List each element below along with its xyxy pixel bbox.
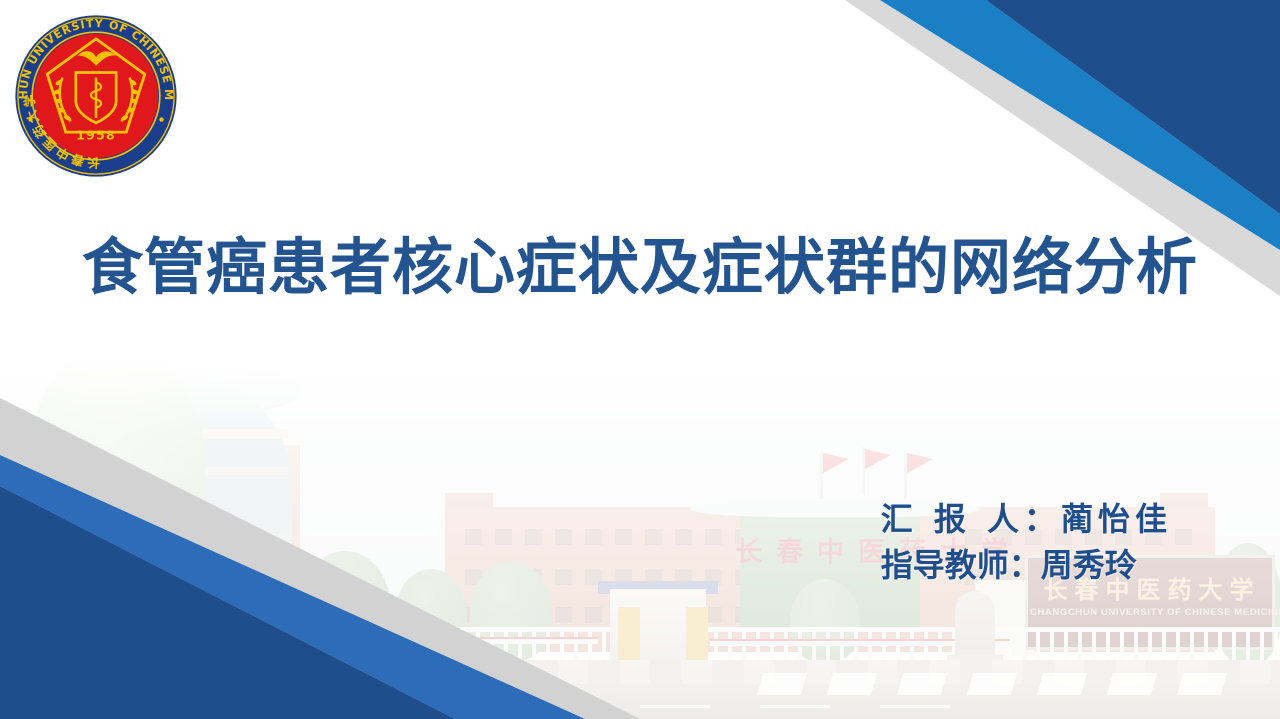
university-emblem-icon: CHANGCHUN UNIVERSITY OF CHINESE MEDICINE… xyxy=(12,12,180,180)
credit-supervisor: 指导教师：周秀玲 xyxy=(881,542,1172,588)
title-slide: 长春中医药大学 长春中医药大学 CHANGCHUN UNIVERSITY OF … xyxy=(0,0,1280,719)
slide-title-block: 食管癌患者核心症状及症状群的网络分析 xyxy=(0,228,1280,309)
page-title: 食管癌患者核心症状及症状群的网络分析 xyxy=(8,228,1272,309)
presenter-credits: 汇 报 人：蔺怡佳 指导教师：周秀玲 xyxy=(881,496,1172,588)
university-logo: CHANGCHUN UNIVERSITY OF CHINESE MEDICINE… xyxy=(12,12,180,180)
credit-presenter: 汇 报 人：蔺怡佳 xyxy=(881,496,1172,542)
svg-text:1958: 1958 xyxy=(76,128,116,143)
